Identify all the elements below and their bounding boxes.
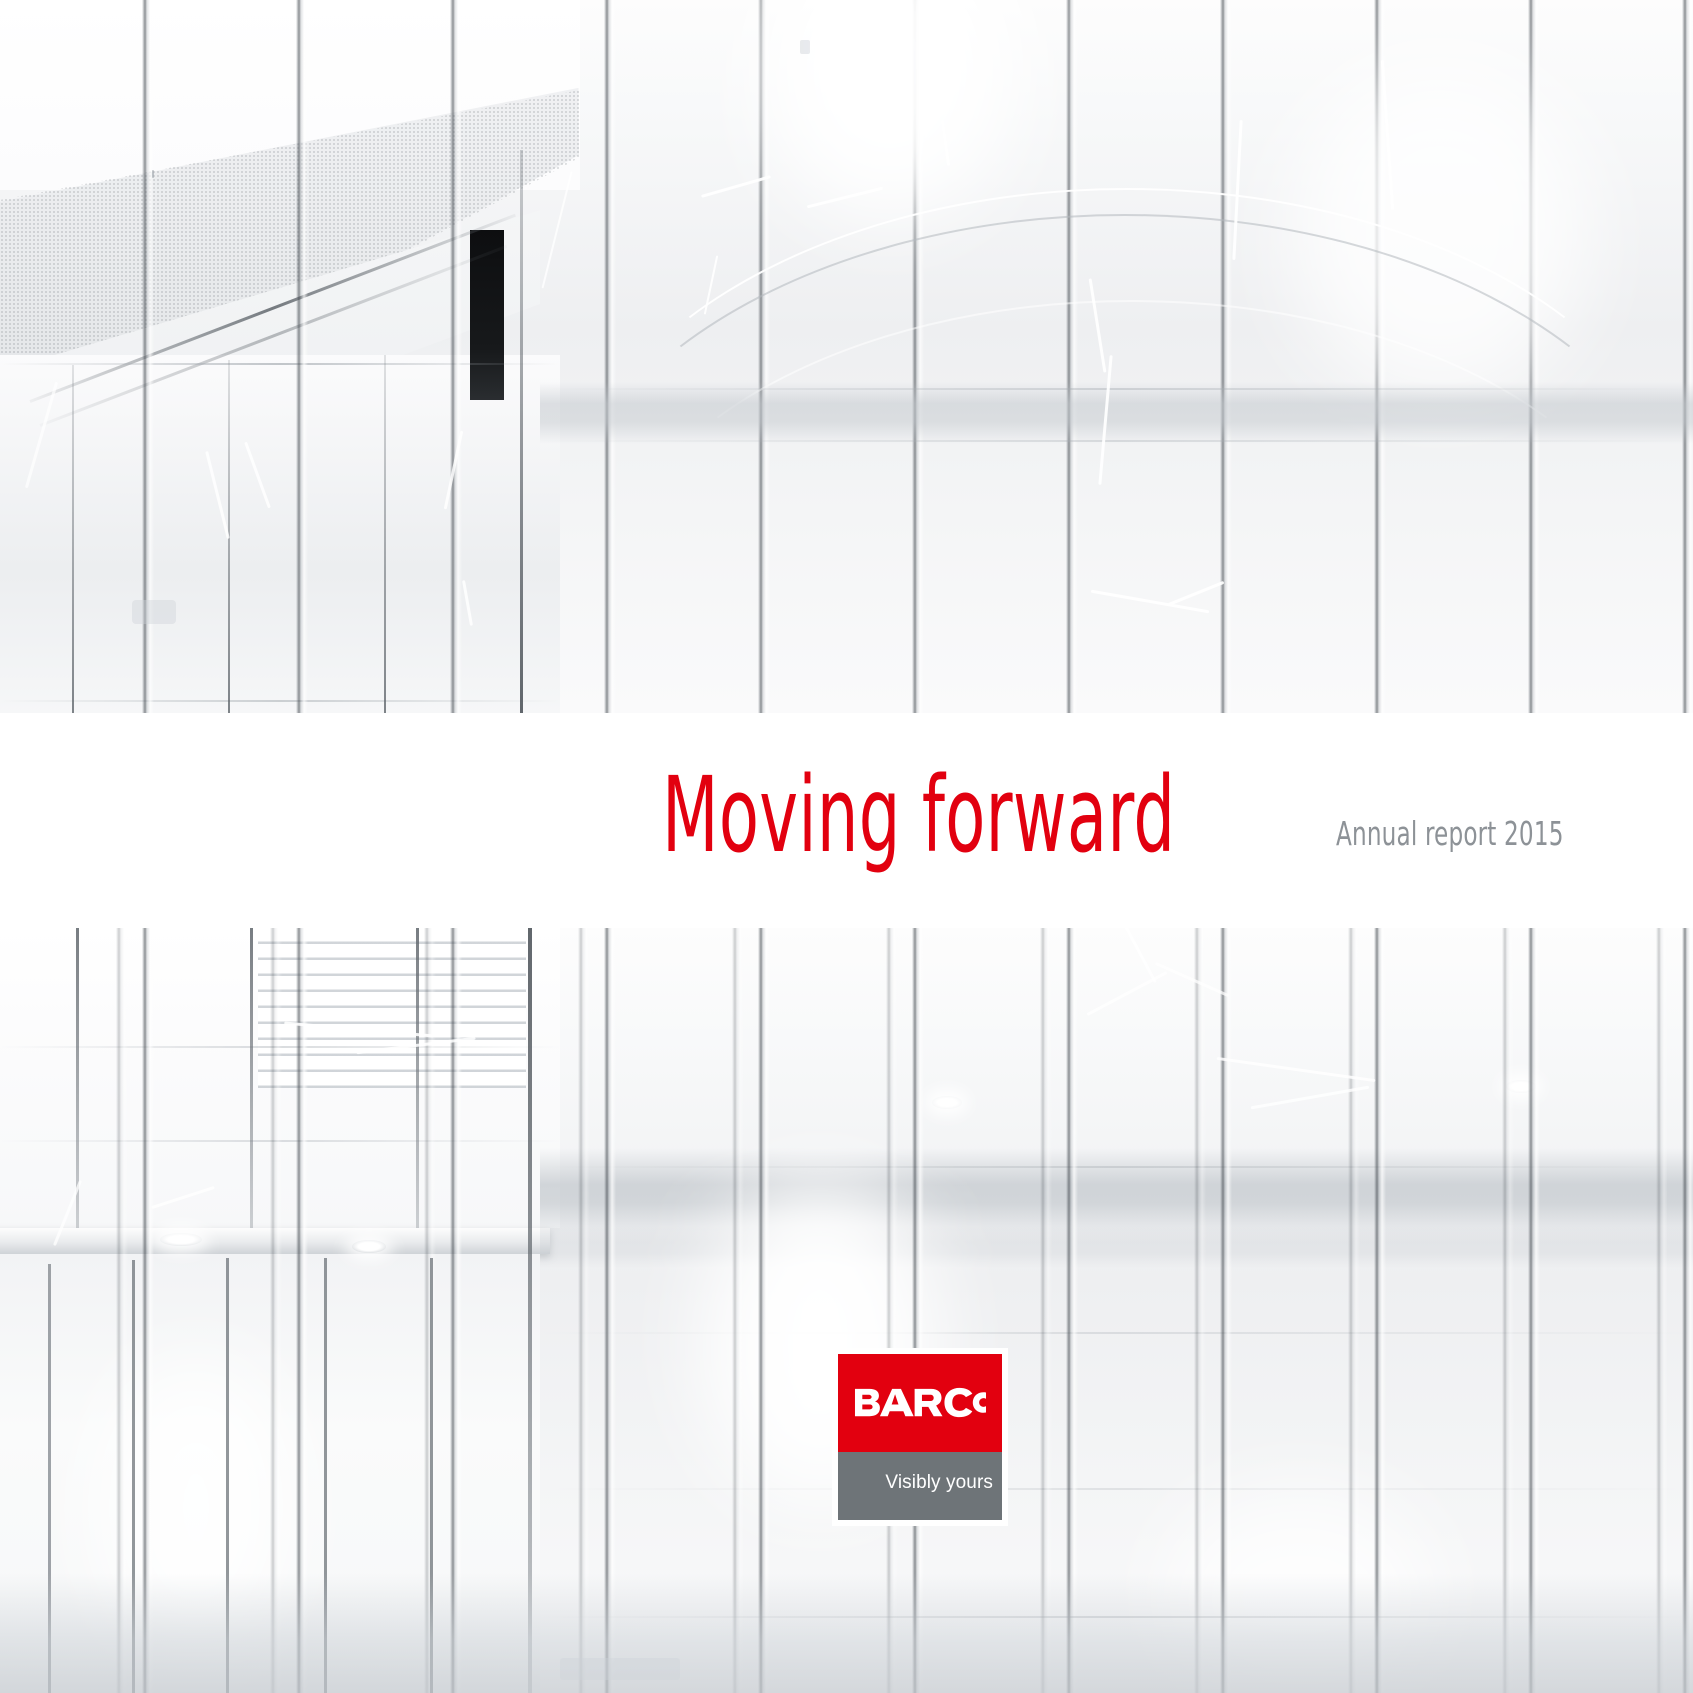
hero-photo-top — [0, 0, 1693, 713]
mullion-bar — [416, 928, 419, 1228]
report-cover-page: Moving forward Annual report 2015 — [0, 0, 1693, 1693]
report-subtitle: Annual report 2015 — [1336, 817, 1564, 850]
speck — [152, 170, 154, 178]
mullion-bar-corner — [520, 150, 523, 713]
interior-band — [540, 382, 1693, 444]
mullion-bar — [72, 365, 74, 713]
ground-line — [540, 1616, 1693, 1618]
logo-tagline: Visibly yours — [885, 1473, 993, 1492]
interior-fixture — [800, 40, 810, 54]
transom-line — [540, 388, 1693, 390]
barco-wordmark-icon — [854, 1386, 986, 1420]
hero-photo-bottom — [0, 928, 1693, 1693]
transom-line — [540, 440, 1693, 442]
ground-shadow — [0, 1573, 1693, 1693]
logo-grey-block: Visibly yours — [838, 1452, 1002, 1520]
barco-logo: Visibly yours — [832, 1348, 1008, 1526]
interior-reflection-patch — [132, 600, 176, 624]
logo-red-block — [838, 1354, 1002, 1452]
ground-reflection — [560, 1658, 680, 1680]
title-band: Moving forward Annual report 2015 — [0, 713, 1693, 928]
mullion-bar — [250, 928, 253, 1228]
page-title: Moving forward — [662, 763, 1175, 867]
mullion-bar — [384, 355, 386, 713]
